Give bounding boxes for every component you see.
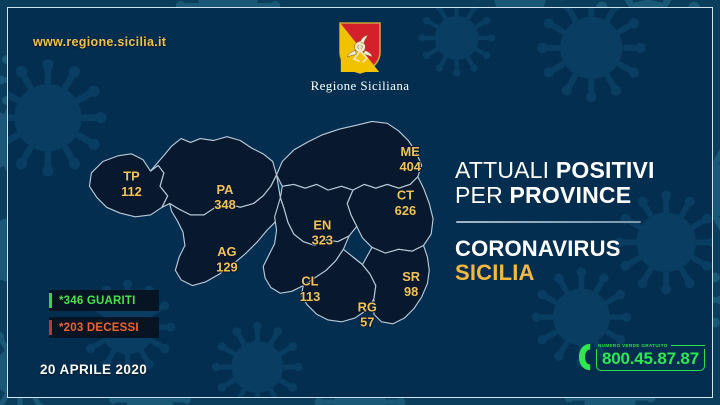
province-code-en: EN [313,217,331,232]
legend-item-guariti: *346 GUARITI [49,290,159,311]
province-value-sr: 98 [404,284,418,299]
province-value-tp: 112 [121,184,142,199]
phone-caption-line [671,345,705,346]
phone-text-group: NUMERO VERDE GRATUITO 800.45.87.87 [596,343,705,370]
province-code-pa: PA [217,182,234,197]
headline-line2-bold: PROVINCE [510,182,632,208]
website-url[interactable]: www.regione.sicilia.it [33,35,166,49]
province-value-ag: 129 [216,259,237,274]
subtitle-coronavirus: CORONAVIRUS [455,237,705,261]
province-code-me: ME [401,144,421,159]
phone-number[interactable]: 800.45.87.87 [602,349,699,368]
poster-inner-frame: www.regione.sicilia.it [7,7,713,398]
province-code-ag: AG [217,244,236,259]
headline-line1-bold: POSITIVI [556,157,655,183]
province-code-tp: TP [123,169,140,184]
subtitle-sicilia: SICILIA [455,261,705,286]
province-code-rg: RG [358,299,377,314]
province-code-ct: CT [397,188,414,203]
legend-box: *346 GUARITI *203 DECESSI [49,290,161,344]
phone-caption-label: NUMERO VERDE GRATUITO [598,343,668,348]
phone-number-box[interactable]: 800.45.87.87 [596,349,705,370]
province-value-pa: 348 [214,197,235,212]
province-value-ct: 626 [395,203,416,218]
province-value-me: 404 [399,159,421,174]
toll-free-number-block[interactable]: NUMERO VERDE GRATUITO 800.45.87.87 [578,342,705,372]
province-value-cl: 113 [300,289,321,304]
province-value-en: 323 [312,233,333,248]
legend-label-guariti: *346 GUARITI [59,295,136,307]
headline-divider [456,221,641,223]
headline-panel: ATTUALI POSITIVI PER PROVINCE CORONAVIRU… [455,158,705,285]
legend-item-decessi: *203 DECESSI [49,317,159,338]
infographic-poster: www.regione.sicilia.it [0,0,720,405]
headline-line1-light: ATTUALI [455,157,549,183]
date-label: 20 APRILE 2020 [40,362,147,377]
province-code-sr: SR [402,269,421,284]
legend-label-decessi: *203 DECESSI [59,322,139,334]
province-value-rg: 57 [360,315,374,330]
phone-caption-row: NUMERO VERDE GRATUITO [596,343,705,348]
province-shape-ct [347,177,433,253]
legend-bar-green [49,293,52,308]
legend-bar-red [49,320,52,335]
headline-text: ATTUALI POSITIVI PER PROVINCE [455,158,705,208]
province-code-cl: CL [301,274,318,289]
headline-line2-light: PER [455,182,503,208]
phone-handset-icon [578,342,593,372]
